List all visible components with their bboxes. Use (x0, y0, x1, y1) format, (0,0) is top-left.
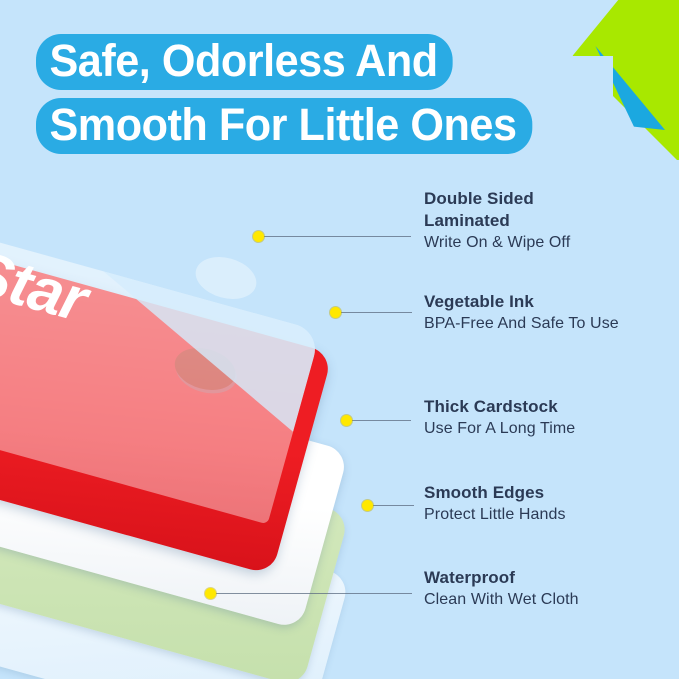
headline-line-1: Safe, Odorless And (36, 34, 453, 90)
callout-dot-1 (253, 231, 264, 242)
headline-line-2: Smooth For Little Ones (36, 98, 532, 154)
callout-line-4 (372, 505, 414, 506)
page-title: Safe, Odorless And Smooth For Little One… (36, 34, 596, 162)
feature-subtitle: Protect Little Hands (424, 504, 566, 526)
callout-line-1 (263, 236, 411, 237)
feature-label-vegetable-ink: Vegetable Ink BPA-Free And Safe To Use (424, 291, 619, 335)
callout-line-2 (340, 312, 412, 313)
feature-title: Thick Cardstock (424, 396, 575, 418)
feature-label-smooth-edges: Smooth Edges Protect Little Hands (424, 482, 566, 526)
callout-line-3 (351, 420, 411, 421)
feature-subtitle: BPA-Free And Safe To Use (424, 313, 619, 335)
feature-title: Smooth Edges (424, 482, 566, 504)
feature-subtitle: Clean With Wet Cloth (424, 589, 579, 611)
callout-dot-5 (205, 588, 216, 599)
feature-label-double-sided-laminated: Double Sided Laminated Write On & Wipe O… (424, 188, 570, 254)
film-hole (191, 250, 261, 305)
feature-label-waterproof: Waterproof Clean With Wet Cloth (424, 567, 579, 611)
feature-subtitle: Write On & Wipe Off (424, 232, 570, 254)
callout-line-5 (215, 593, 412, 594)
callout-dot-3 (341, 415, 352, 426)
feature-label-thick-cardstock: Thick Cardstock Use For A Long Time (424, 396, 575, 440)
feature-title: Vegetable Ink (424, 291, 619, 313)
callout-dot-2 (330, 307, 341, 318)
feature-title-2: Laminated (424, 210, 570, 232)
feature-title: Double Sided (424, 188, 570, 210)
product-infographic: Safe, Odorless And Smooth For Little One… (0, 0, 679, 679)
feature-subtitle: Use For A Long Time (424, 418, 575, 440)
callout-dot-4 (362, 500, 373, 511)
feature-title: Waterproof (424, 567, 579, 589)
